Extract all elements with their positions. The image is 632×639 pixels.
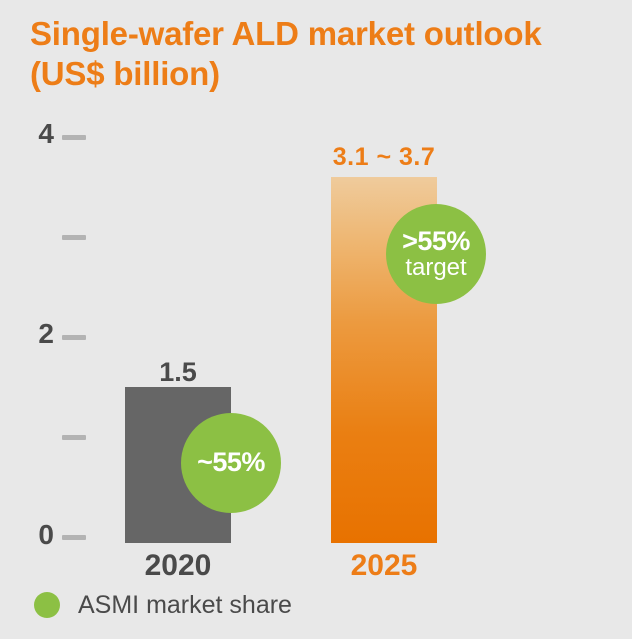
legend: ASMI market share: [34, 592, 292, 618]
bar-value-label-2025: 3.1 ~ 3.7: [324, 143, 444, 171]
legend-label-asmi-market-share: ASMI market share: [78, 592, 292, 618]
y-axis-tick-3: [62, 235, 86, 240]
y-axis-tick-2: [62, 335, 86, 340]
market-share-bubble-2025-value: >55%: [402, 228, 470, 256]
market-share-bubble-2025-subtext: target: [405, 256, 466, 280]
x-axis-label-2025: 2025: [324, 549, 444, 583]
x-axis-label-2020: 2020: [118, 549, 238, 583]
bar-value-label-2020: 1.5: [118, 358, 238, 386]
market-share-bubble-2020-value: ~55%: [197, 449, 265, 477]
y-axis-tick-1: [62, 435, 86, 440]
plot-area: 4 2 0 1.5 ~55% 2020 3.1 ~ 3.7 >55% targe…: [0, 0, 632, 639]
market-share-bubble-2020: ~55%: [181, 413, 281, 513]
y-axis-tick-4: [62, 135, 86, 140]
y-axis-label-4: 4: [14, 120, 54, 148]
y-axis-tick-0: [62, 535, 86, 540]
y-axis-label-0: 0: [14, 521, 54, 549]
y-axis-label-2: 2: [14, 320, 54, 348]
market-share-bubble-2025: >55% target: [386, 204, 486, 304]
legend-marker-icon: [34, 592, 60, 618]
chart-canvas: Single-wafer ALD market outlook (US$ bil…: [0, 0, 632, 639]
